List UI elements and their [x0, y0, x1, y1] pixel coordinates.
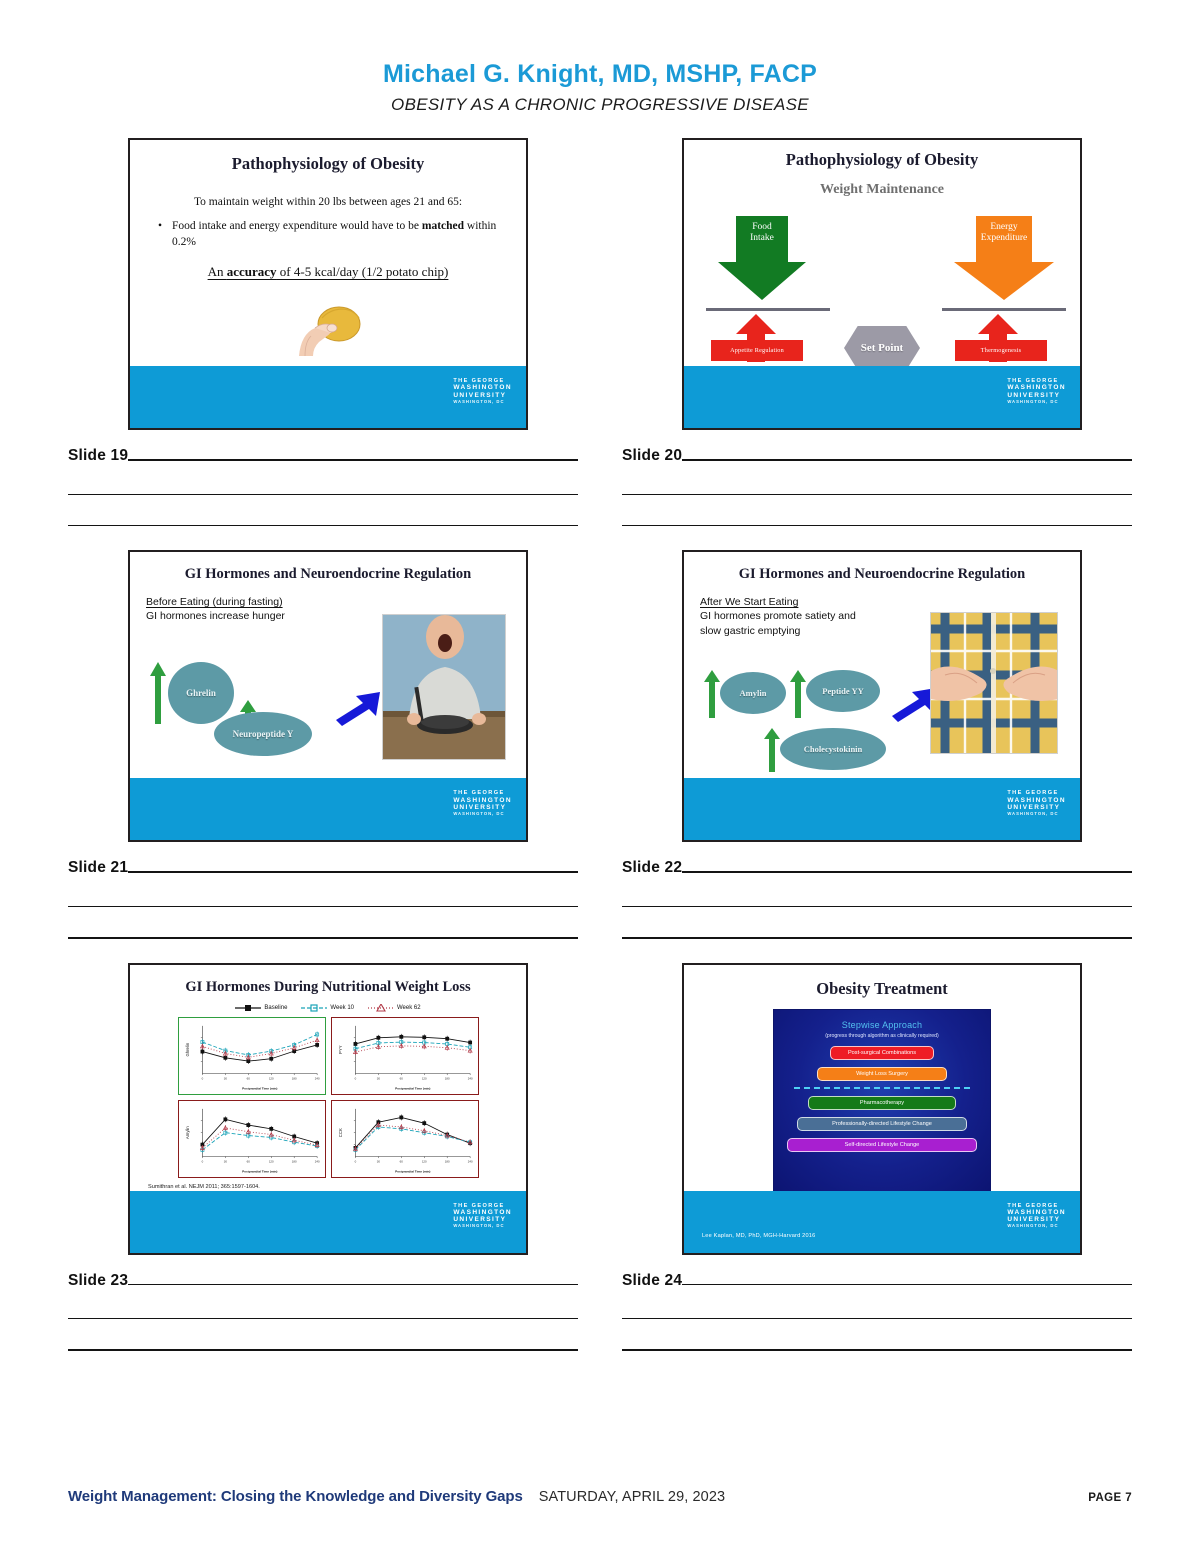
svg-text:PYY: PYY [337, 1045, 342, 1054]
slide-title: GI Hormones and Neuroendocrine Regulatio… [130, 552, 526, 583]
accuracy-bold: accuracy [227, 264, 277, 279]
hormone-peptide-yy: Peptide YY [806, 670, 880, 712]
svg-text:Postprandial Time (min): Postprandial Time (min) [395, 1169, 430, 1173]
slide-thumbnail-24[interactable]: Obesity Treatment Stepwise Approach (pro… [682, 963, 1082, 1255]
energy-line1: Energy [954, 222, 1054, 233]
slide-cell-24: Obesity Treatment Stepwise Approach (pro… [622, 963, 1132, 1351]
slide-footer-band: Lee Kaplan, MD, PhD, MGH-Harvard 2016 TH… [684, 1191, 1080, 1253]
svg-text:Postprandial Time (min): Postprandial Time (min) [395, 1086, 430, 1090]
logo-line-3: UNIVERSITY [453, 392, 512, 399]
note-line[interactable] [622, 1349, 1132, 1350]
note-line[interactable] [622, 906, 1132, 907]
stepwise-subtitle: (progress through algorithm as clinicall… [774, 1033, 990, 1039]
stepwise-box-4[interactable]: Professionally-directed Lifestyle Change [797, 1117, 967, 1131]
page-header: Michael G. Knight, MD, MSHP, FACP OBESIT… [0, 0, 1200, 115]
svg-text:30: 30 [376, 1159, 380, 1163]
note-line[interactable] [68, 525, 578, 526]
slide-title: Obesity Treatment [684, 965, 1080, 999]
food-intake-line2: Intake [718, 233, 806, 244]
slide-cell-20: Pathophysiology of Obesity Weight Mainte… [622, 138, 1132, 526]
slide-thumbnail-21[interactable]: GI Hormones and Neuroendocrine Regulatio… [128, 550, 528, 842]
slide-footer-band: THE GEORGE WASHINGTON UNIVERSITY WASHING… [684, 366, 1080, 428]
slide-label: Slide 21 [68, 860, 128, 876]
logo-line-1: THE GEORGE [1007, 1203, 1066, 1209]
stepwise-box-3[interactable]: Pharmacotherapy [808, 1096, 956, 1110]
note-line[interactable] [128, 1284, 578, 1285]
chart-panel-amylin: 03060120180240AmylinPostprandial Time (m… [178, 1100, 326, 1178]
legend-label: Week 10 [330, 1005, 354, 1011]
note-line[interactable] [68, 1349, 578, 1350]
gw-university-logo: THE GEORGE WASHINGTON UNIVERSITY WASHING… [1007, 1203, 1066, 1229]
gw-university-logo: THE GEORGE WASHINGTON UNIVERSITY WASHING… [1007, 790, 1066, 816]
svg-text:60: 60 [399, 1076, 403, 1080]
stepwise-box-1[interactable]: Post-surgical Combinations [830, 1046, 934, 1060]
chart-citation: Sumithran et al. NEJM 2011; 365:1597-160… [148, 1184, 526, 1190]
blue-arrow-icon [336, 692, 380, 726]
logo-line-3: UNIVERSITY [453, 1216, 512, 1223]
heading-underlined: Before Eating (during fasting) [146, 595, 526, 609]
slide-footer-band: THE GEORGE WASHINGTON UNIVERSITY WASHING… [130, 1191, 526, 1253]
stepwise-box-2[interactable]: Weight Loss Surgery [817, 1067, 947, 1081]
bullet-text-bold: matched [422, 220, 464, 232]
slide-cell-21: GI Hormones and Neuroendocrine Regulatio… [68, 550, 578, 938]
logo-line-4: WASHINGTON, DC [1007, 400, 1066, 405]
legend-item-week62: Week 62 [368, 1004, 421, 1012]
svg-text:60: 60 [399, 1159, 403, 1163]
chart-panel-grid: 03060120180240GhrelinPostprandial Time (… [130, 1017, 526, 1178]
slide-label-row: Slide 20 [622, 448, 1132, 464]
svg-text:120: 120 [268, 1159, 273, 1163]
svg-text:Ghrelin: Ghrelin [184, 1042, 189, 1056]
slide-label: Slide 19 [68, 448, 128, 464]
line-chart: 03060120180240CCKPostprandial Time (min) [335, 1104, 475, 1174]
note-line[interactable] [622, 525, 1132, 526]
footer-page-number: PAGE 7 [1088, 1492, 1132, 1504]
slide-thumbnail-19[interactable]: Pathophysiology of Obesity To maintain w… [128, 138, 528, 430]
slide-label: Slide 23 [68, 1273, 128, 1289]
stepwise-divider [794, 1087, 970, 1089]
slide-label: Slide 24 [622, 1273, 682, 1289]
svg-text:120: 120 [421, 1159, 426, 1163]
footer-title: Weight Management: Closing the Knowledge… [68, 1488, 523, 1505]
slide-label: Slide 20 [622, 448, 682, 464]
slide-cell-22: GI Hormones and Neuroendocrine Regulatio… [622, 550, 1132, 938]
line-chart: 03060120180240PYYPostprandial Time (min) [335, 1021, 475, 1091]
slide-thumbnail-23[interactable]: GI Hormones During Nutritional Weight Lo… [128, 963, 528, 1255]
slide-footer-band: THE GEORGE WASHINGTON UNIVERSITY WASHING… [130, 366, 526, 428]
svg-text:240: 240 [314, 1076, 319, 1080]
slide-cell-23: GI Hormones During Nutritional Weight Lo… [68, 963, 578, 1351]
note-line[interactable] [622, 494, 1132, 495]
gw-university-logo: THE GEORGE WASHINGTON UNIVERSITY WASHING… [453, 378, 512, 404]
gw-university-logo: THE GEORGE WASHINGTON UNIVERSITY WASHING… [1007, 378, 1066, 404]
svg-text:120: 120 [421, 1076, 426, 1080]
slide-footer-band: THE GEORGE WASHINGTON UNIVERSITY WASHING… [684, 778, 1080, 840]
note-line[interactable] [682, 1284, 1132, 1285]
legend-marker-week10 [301, 1004, 327, 1012]
svg-text:0: 0 [201, 1076, 203, 1080]
slide-bullet: Food intake and energy expenditure would… [172, 218, 500, 250]
appetite-regulation-label: Appetite Regulation [711, 340, 803, 361]
svg-text:CCK: CCK [337, 1128, 342, 1137]
food-intake-arrow: Food Intake [718, 216, 806, 300]
svg-text:Postprandial Time (min): Postprandial Time (min) [242, 1169, 277, 1173]
logo-line-4: WASHINGTON, DC [1007, 812, 1066, 817]
slide-row: GI Hormones and Neuroendocrine Regulatio… [68, 550, 1132, 938]
food-intake-line1: Food [718, 222, 806, 233]
note-line[interactable] [128, 459, 578, 460]
legend-label: Baseline [264, 1005, 287, 1011]
footer-date: SATURDAY, APRIL 29, 2023 [539, 1489, 725, 1505]
page-footer: Weight Management: Closing the Knowledge… [68, 1488, 1132, 1505]
stepwise-title: Stepwise Approach [774, 1020, 990, 1030]
svg-text:180: 180 [444, 1076, 449, 1080]
presentation-subtitle: OBESITY AS A CHRONIC PROGRESSIVE DISEASE [0, 95, 1200, 115]
logo-line-1: THE GEORGE [453, 790, 512, 796]
note-line[interactable] [622, 937, 1132, 938]
svg-text:180: 180 [291, 1159, 296, 1163]
svg-text:30: 30 [223, 1159, 227, 1163]
legend-marker-baseline [235, 1004, 261, 1012]
svg-text:0: 0 [354, 1076, 356, 1080]
stepwise-approach-diagram: Stepwise Approach (progress through algo… [773, 1009, 991, 1191]
energy-line2: Expenditure [954, 233, 1054, 244]
svg-text:Postprandial Time (min): Postprandial Time (min) [242, 1086, 277, 1090]
logo-line-4: WASHINGTON, DC [453, 812, 512, 817]
svg-text:240: 240 [467, 1159, 472, 1163]
legend-item-baseline: Baseline [235, 1004, 287, 1012]
line-chart: 03060120180240GhrelinPostprandial Time (… [182, 1021, 322, 1091]
hormone-cholecystokinin: Cholecystokinin [780, 728, 886, 770]
svg-text:240: 240 [467, 1076, 472, 1080]
up-arrow-icon [790, 670, 806, 718]
note-line[interactable] [682, 459, 1132, 460]
slide-title: Pathophysiology of Obesity [684, 140, 1080, 170]
slide-title: Pathophysiology of Obesity [130, 140, 526, 174]
logo-line-1: THE GEORGE [453, 1203, 512, 1209]
energy-expenditure-arrow: Energy Expenditure [954, 216, 1054, 300]
chart-panel-ghrelin: 03060120180240GhrelinPostprandial Time (… [178, 1017, 326, 1095]
slide-label-row: Slide 19 [68, 448, 578, 464]
logo-line-3: UNIVERSITY [453, 804, 512, 811]
legend-label: Week 62 [397, 1005, 421, 1011]
slide-row: GI Hormones During Nutritional Weight Lo… [68, 963, 1132, 1351]
note-line[interactable] [68, 494, 578, 495]
presenter-name: Michael G. Knight, MD, MSHP, FACP [0, 60, 1200, 89]
hormone-ghrelin: Ghrelin [168, 662, 234, 724]
slide-label-row: Slide 21 [68, 860, 578, 876]
hormone-neuropeptide-y: Neuropeptide Y [214, 712, 312, 756]
logo-line-4: WASHINGTON, DC [1007, 1224, 1066, 1229]
legend-item-week10: Week 10 [301, 1004, 354, 1012]
logo-line-2: WASHINGTON [453, 797, 512, 804]
heading-underlined: After We Start Eating [700, 595, 1080, 609]
stepwise-box-5[interactable]: Self-directed Lifestyle Change [787, 1138, 977, 1152]
note-line[interactable] [68, 906, 578, 907]
svg-text:60: 60 [246, 1076, 250, 1080]
logo-line-2: WASHINGTON [453, 1209, 512, 1216]
accuracy-prefix: An [208, 264, 227, 279]
logo-line-3: UNIVERSITY [1007, 804, 1066, 811]
svg-text:60: 60 [246, 1159, 250, 1163]
set-point-hexagon: Set Point [844, 326, 920, 366]
logo-line-2: WASHINGTON [1007, 1209, 1066, 1216]
logo-line-4: WASHINGTON, DC [453, 1224, 512, 1229]
slides-grid: Pathophysiology of Obesity To maintain w… [68, 138, 1132, 1375]
slide-label-row: Slide 24 [622, 1273, 1132, 1289]
logo-line-4: WASHINGTON, DC [453, 400, 512, 405]
photo-graphic [931, 613, 1058, 754]
logo-line-1: THE GEORGE [1007, 790, 1066, 796]
hungry-person-photo [382, 614, 506, 760]
svg-text:240: 240 [314, 1159, 319, 1163]
weight-maintenance-diagram: Food Intake Energy [684, 204, 1080, 366]
stepwise-box-list: Post-surgical CombinationsWeight Loss Su… [774, 1046, 990, 1152]
up-arrow-icon [764, 728, 780, 772]
thermogenesis-label: Thermogenesis [955, 340, 1047, 361]
slide-cell-19: Pathophysiology of Obesity To maintain w… [68, 138, 578, 526]
svg-text:120: 120 [268, 1076, 273, 1080]
full-stomach-photo [930, 612, 1058, 754]
svg-text:0: 0 [201, 1159, 203, 1163]
svg-text:0: 0 [354, 1159, 356, 1163]
slide-credit: Lee Kaplan, MD, PhD, MGH-Harvard 2016 [702, 1233, 815, 1239]
up-arrow-icon [150, 662, 166, 724]
slide-thumbnail-20[interactable]: Pathophysiology of Obesity Weight Mainte… [682, 138, 1082, 430]
slide-label-row: Slide 23 [68, 1273, 578, 1289]
slide-lead-text: To maintain weight within 20 lbs between… [130, 196, 526, 208]
chart-panel-cck: 03060120180240CCKPostprandial Time (min) [331, 1100, 479, 1178]
logo-line-3: UNIVERSITY [1007, 1216, 1066, 1223]
logo-line-2: WASHINGTON [1007, 384, 1066, 391]
slide-title: GI Hormones During Nutritional Weight Lo… [130, 965, 526, 996]
chart-panel-pyy: 03060120180240PYYPostprandial Time (min) [331, 1017, 479, 1095]
right-baseline [942, 308, 1066, 311]
note-line[interactable] [682, 871, 1132, 872]
slide-title: GI Hormones and Neuroendocrine Regulatio… [684, 552, 1080, 583]
up-arrow-icon [704, 670, 720, 718]
gw-university-logo: THE GEORGE WASHINGTON UNIVERSITY WASHING… [453, 1203, 512, 1229]
note-line[interactable] [622, 1318, 1132, 1319]
slide-subtitle: Weight Maintenance [684, 182, 1080, 198]
line-chart: 03060120180240AmylinPostprandial Time (m… [182, 1104, 322, 1174]
slide-label-row: Slide 22 [622, 860, 1132, 876]
bullet-text-prefix: Food intake and energy expenditure would… [172, 220, 422, 232]
svg-text:Amylin: Amylin [184, 1125, 189, 1138]
legend-marker-week62 [368, 1004, 394, 1012]
slide-row: Pathophysiology of Obesity To maintain w… [68, 138, 1132, 526]
logo-line-2: WASHINGTON [453, 384, 512, 391]
gw-university-logo: THE GEORGE WASHINGTON UNIVERSITY WASHING… [453, 790, 512, 816]
chart-legend: Baseline Week 10 [130, 1004, 526, 1012]
svg-text:30: 30 [223, 1076, 227, 1080]
slide-thumbnail-22[interactable]: GI Hormones and Neuroendocrine Regulatio… [682, 550, 1082, 842]
logo-line-3: UNIVERSITY [1007, 392, 1066, 399]
logo-line-2: WASHINGTON [1007, 797, 1066, 804]
svg-text:180: 180 [444, 1159, 449, 1163]
potato-chip-image [289, 298, 367, 358]
food-intake-label: Food Intake [718, 222, 806, 244]
note-line[interactable] [68, 937, 578, 938]
note-line[interactable] [128, 871, 578, 872]
photo-graphic [383, 615, 506, 760]
svg-text:180: 180 [291, 1076, 296, 1080]
energy-expenditure-label: Energy Expenditure [954, 222, 1054, 244]
note-line[interactable] [68, 1318, 578, 1319]
svg-text:30: 30 [376, 1076, 380, 1080]
slide-label: Slide 22 [622, 860, 682, 876]
accuracy-suffix: of 4-5 kcal/day (1/2 potato chip) [277, 264, 449, 279]
hormone-amylin: Amylin [720, 672, 786, 714]
slide-footer-band: THE GEORGE WASHINGTON UNIVERSITY WASHING… [130, 778, 526, 840]
left-baseline [706, 308, 830, 311]
slide-accuracy-line: An accuracy of 4-5 kcal/day (1/2 potato … [130, 264, 526, 280]
